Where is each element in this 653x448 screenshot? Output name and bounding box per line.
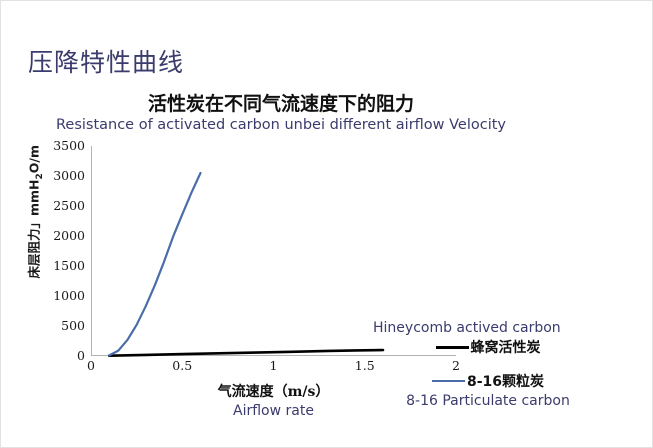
legend-swatch-black-icon — [436, 346, 469, 349]
y-tick-label: 1000 — [39, 290, 85, 303]
legend-item-particulate[interactable]: 8-16颗粒炭 — [373, 371, 603, 391]
x-tick-label: 1 — [254, 360, 294, 373]
x-tick-label: 0.5 — [162, 360, 202, 373]
legend-label-particulate: 8-16颗粒炭 — [467, 371, 544, 391]
chart-title-chinese: 活性炭在不同气流速度下的阻力 — [1, 89, 561, 116]
legend-item-honeycomb[interactable]: 蜂窝活性炭 — [373, 337, 603, 357]
chart-legend: Hineycomb actived carbon 蜂窝活性炭 8-16颗粒炭 8… — [373, 320, 603, 409]
series-line-honeycomb — [109, 350, 383, 356]
chart-container: 活性炭在不同气流速度下的阻力 Resistance of activated c… — [1, 89, 653, 429]
legend-swatch-blue-icon — [432, 380, 465, 382]
chart-title-english: Resistance of activated carbon unbei dif… — [1, 117, 561, 133]
y-tick-label: 3500 — [39, 140, 85, 153]
y-tick-label: 2500 — [39, 200, 85, 213]
y-axis-ticks: 0500100015002000250030003500 — [37, 146, 85, 356]
legend-caption-honeycomb-en: Hineycomb actived carbon — [373, 320, 603, 336]
legend-caption-particulate-en: 8-16 Particulate carbon — [373, 393, 603, 409]
page-title: 压降特性曲线 — [28, 43, 184, 79]
legend-label-honeycomb: 蜂窝活性炭 — [471, 337, 541, 357]
y-tick-label: 3000 — [39, 170, 85, 183]
slide-canvas: 压降特性曲线 活性炭在不同气流速度下的阻力 Resistance of acti… — [0, 0, 653, 448]
x-tick-label: 0 — [71, 360, 111, 373]
y-tick-label: 2000 — [39, 230, 85, 243]
y-tick-label: 1500 — [39, 260, 85, 273]
series-line-particulate — [109, 173, 200, 355]
y-tick-label: 500 — [39, 320, 85, 333]
